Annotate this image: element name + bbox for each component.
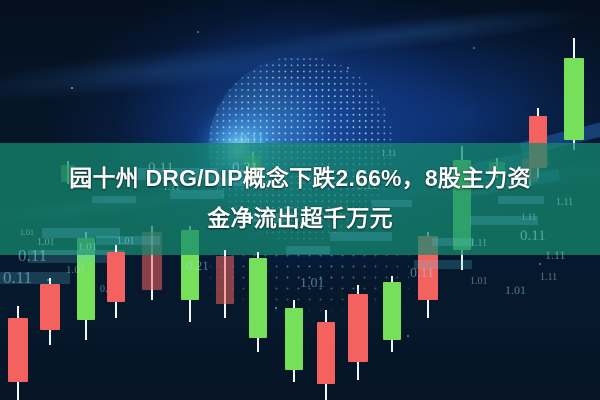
candlestick-body xyxy=(216,256,234,304)
candlestick-down xyxy=(348,285,368,380)
candlestick-down xyxy=(216,250,234,318)
candlestick-body xyxy=(40,284,60,330)
news-banner: 0.110.110.211.113.111.111.111.011.011.01… xyxy=(0,0,600,400)
candlestick-up xyxy=(285,300,303,382)
candlestick-body xyxy=(348,294,368,362)
candlestick-body xyxy=(317,322,335,384)
candlestick-down xyxy=(107,245,125,318)
headline-line-1: 园十州 DRG/DIP概念下跌2.66%，8股主力资 xyxy=(0,158,600,198)
candlestick-up xyxy=(249,252,267,352)
candlestick-up xyxy=(564,38,584,150)
headline: 园十州 DRG/DIP概念下跌2.66%，8股主力资 金净流出超千万元 xyxy=(0,158,600,238)
candlestick-up xyxy=(383,276,401,352)
candlestick-down xyxy=(40,278,60,345)
candlestick-body xyxy=(285,308,303,370)
candlestick-down xyxy=(8,306,28,400)
headline-line-2: 金净流出超千万元 xyxy=(0,198,600,238)
candlestick-body xyxy=(107,252,125,302)
candlestick-body xyxy=(249,258,267,338)
candlestick-down xyxy=(317,310,335,400)
candlestick-body xyxy=(564,58,584,140)
candlestick-body xyxy=(8,318,28,382)
candlestick-body xyxy=(383,282,401,340)
